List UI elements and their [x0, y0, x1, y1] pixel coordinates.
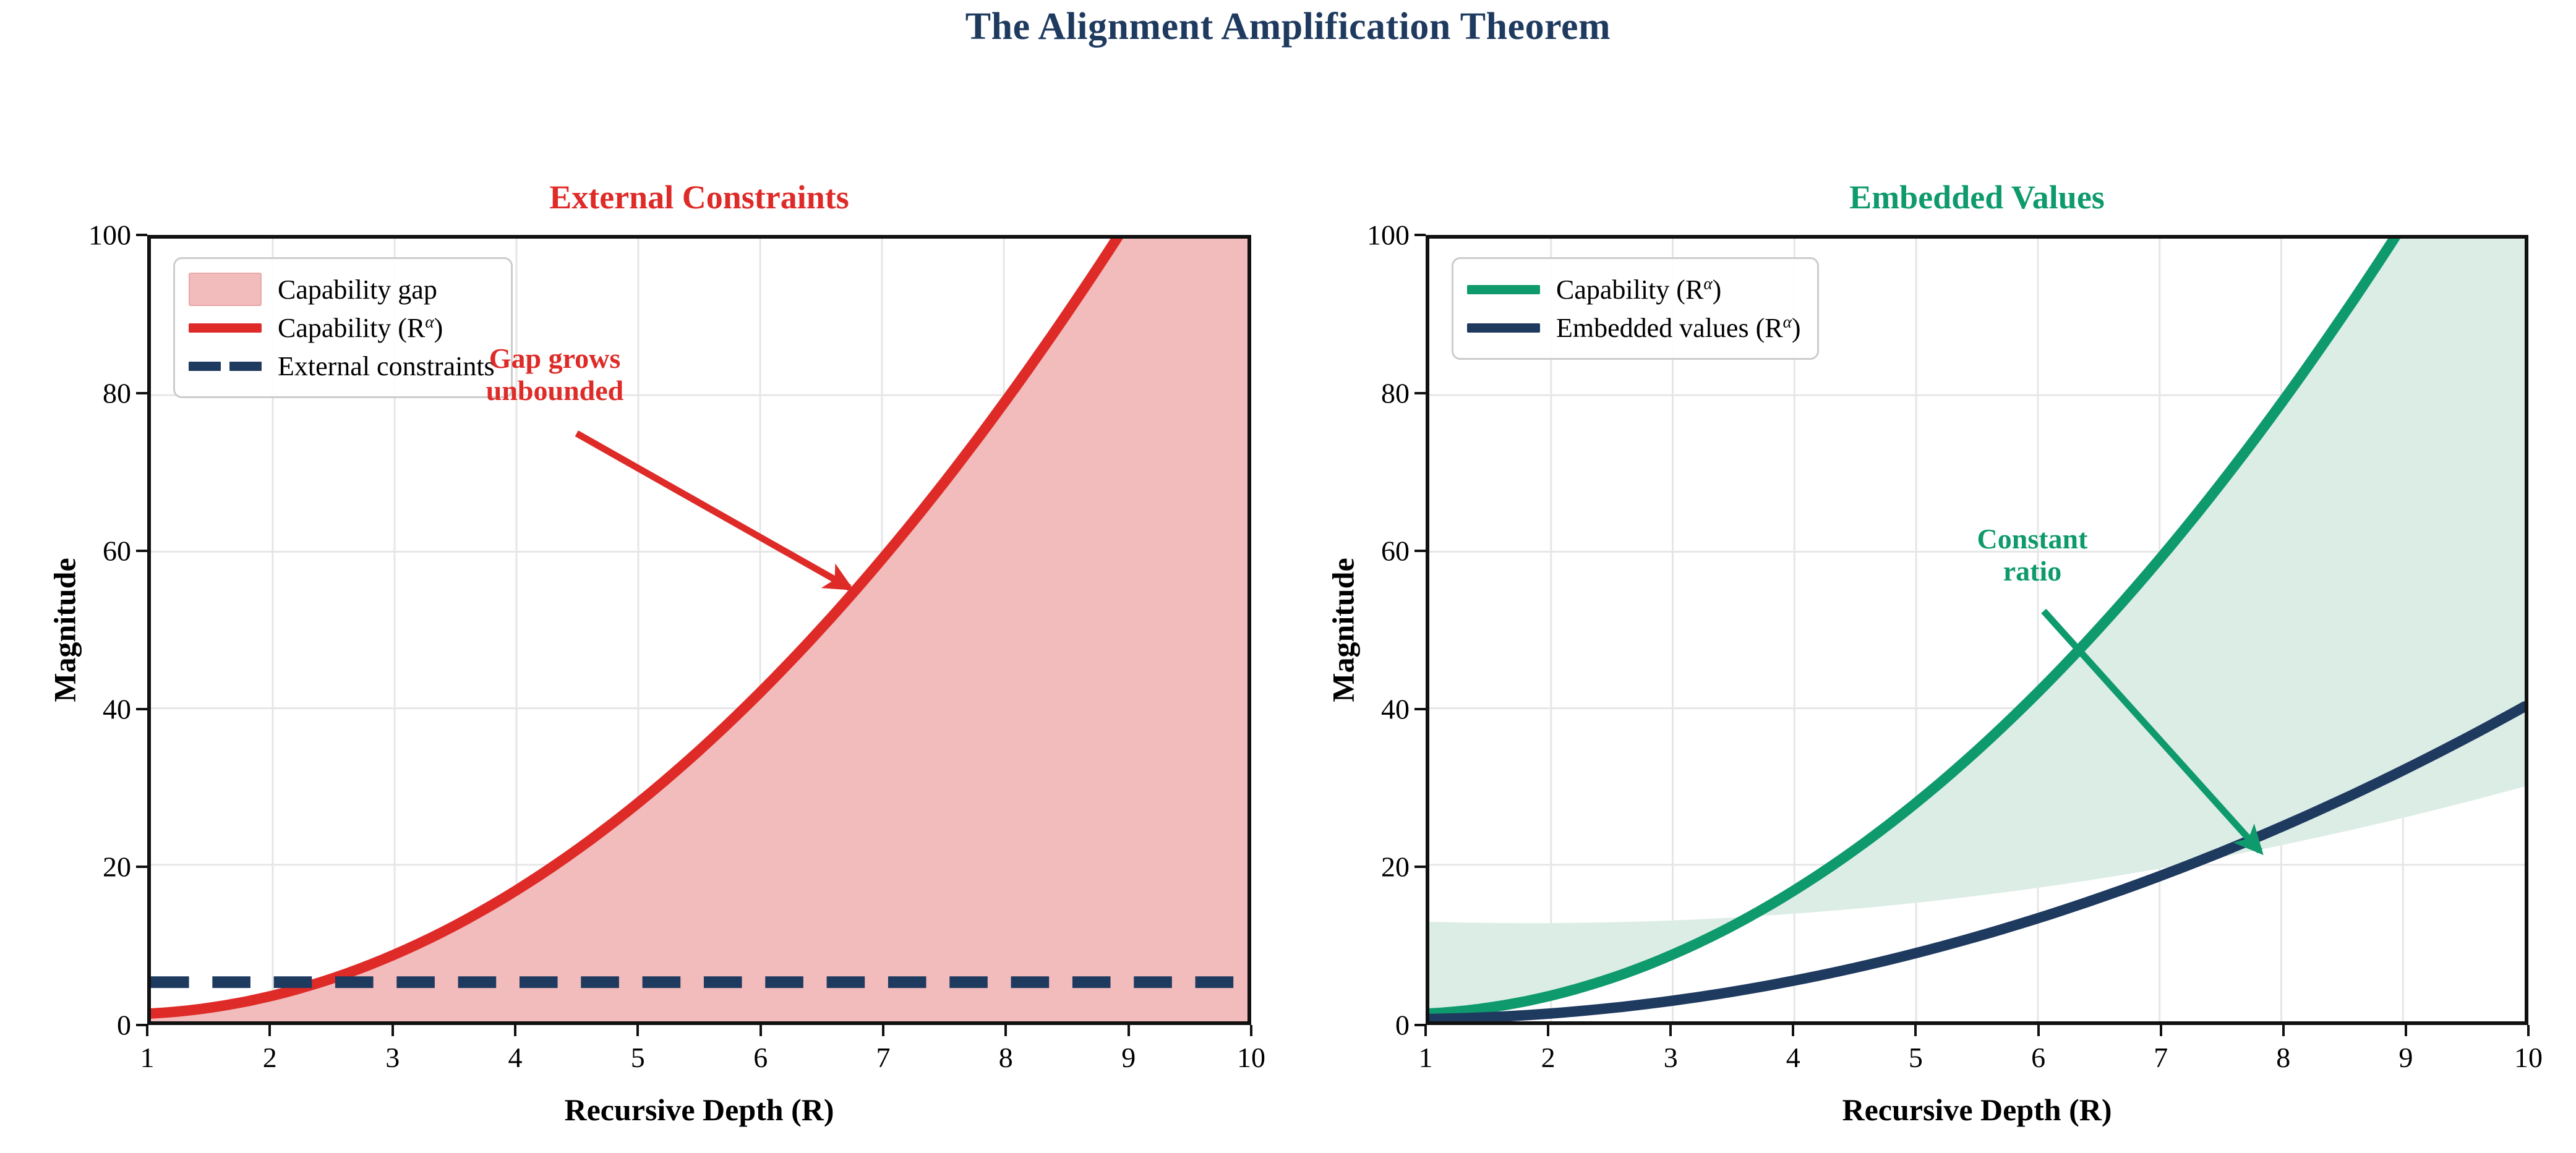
- annotation-gap-grows-unbounded: Gap grows unbounded: [422, 342, 688, 406]
- legend-label-capability-gap: Capability gap: [278, 274, 437, 305]
- annotation-constant-ratio: Constant ratio: [1902, 523, 2162, 587]
- panel-title-external-constraints: External Constraints: [147, 178, 1251, 216]
- panel-embedded-values: Embedded Values Magnitude Recursive Dept…: [1426, 235, 2528, 1025]
- legend-label-embedded-values: Embedded values (Rα): [1556, 312, 1801, 344]
- legend-key-capability: [189, 308, 262, 347]
- plot-area-right: Capability (Rα) Embedded values (Rα) Con…: [1426, 235, 2528, 1025]
- annotation-arrow-left: [576, 433, 849, 588]
- x-axis-label-left: Recursive Depth (R): [147, 1092, 1251, 1128]
- legend-right[interactable]: Capability (Rα) Embedded values (Rα): [1452, 257, 1819, 360]
- legend-label-capability: Capability (Rα): [278, 312, 443, 344]
- y-axis-label-left: Magnitude: [47, 558, 83, 702]
- legend-key-capability-gap: [189, 270, 262, 308]
- legend-label-capability-right: Capability (Rα): [1556, 274, 1721, 305]
- panel-title-embedded-values: Embedded Values: [1426, 178, 2528, 216]
- legend-item-capability-right[interactable]: Capability (Rα): [1467, 270, 1801, 308]
- legend-item-capability[interactable]: Capability (Rα): [189, 308, 495, 347]
- figure-canvas: The Alignment Amplification Theorem Exte…: [0, 0, 2576, 1153]
- legend-key-embedded-values: [1467, 308, 1540, 347]
- y-axis-label-right: Magnitude: [1325, 558, 1361, 702]
- plot-area-left: Capability gap Capability (Rα) External …: [147, 235, 1251, 1025]
- legend-key-external-constraints: [189, 347, 262, 385]
- panel-external-constraints: External Constraints Magnitude Recursive…: [147, 235, 1251, 1025]
- legend-item-capability-gap[interactable]: Capability gap: [189, 270, 495, 308]
- legend-key-capability-right: [1467, 270, 1540, 308]
- x-axis-label-right: Recursive Depth (R): [1426, 1092, 2528, 1128]
- legend-item-embedded-values[interactable]: Embedded values (Rα): [1467, 308, 1801, 347]
- figure-suptitle: The Alignment Amplification Theorem: [0, 5, 2576, 49]
